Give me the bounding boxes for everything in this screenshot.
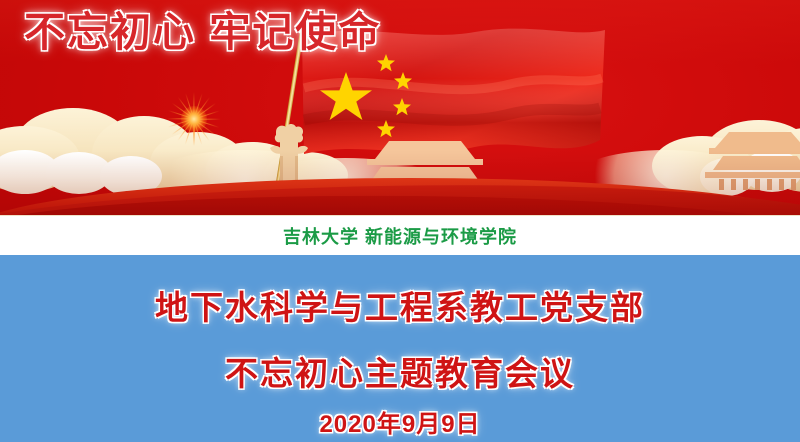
organization-strip: 吉林大学 新能源与环境学院 bbox=[0, 215, 800, 256]
organization-name: 吉林大学 新能源与环境学院 bbox=[283, 223, 517, 249]
presentation-slide: 不忘初心 牢记使命 吉林大学 新能源与环境学院 地下水科学与工程系教工党支部 不… bbox=[0, 0, 800, 442]
banner-headline: 不忘初心 牢记使命 bbox=[24, 6, 381, 58]
title-line-1: 地下水科学与工程系教工党支部 bbox=[0, 281, 800, 329]
title-line-2: 不忘初心主题教育会议 bbox=[0, 347, 800, 395]
meeting-date: 2020年9月9日 bbox=[0, 404, 800, 439]
red-banner: 不忘初心 牢记使命 bbox=[0, 0, 800, 215]
tiananmen-gate-right-icon bbox=[705, 128, 800, 190]
firework-icon bbox=[165, 90, 223, 148]
